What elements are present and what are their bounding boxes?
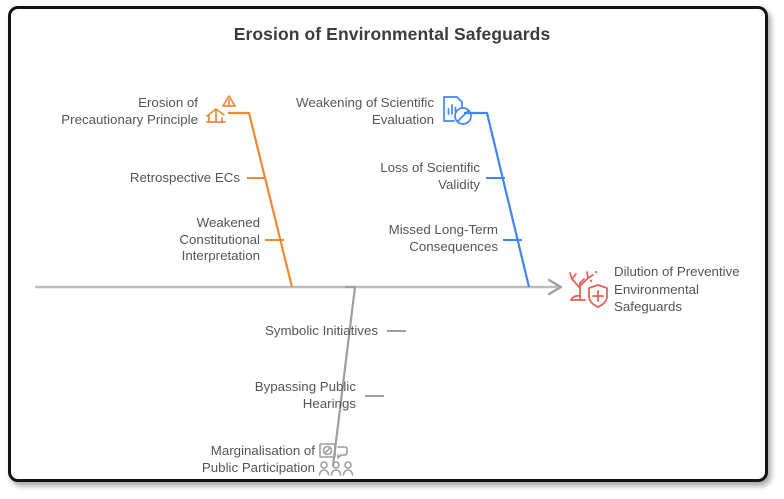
page-title: Erosion of Environmental Safeguards [0, 24, 784, 45]
cause-label-weakening-scientific-evaluation: Weakening of Scientific Evaluation [250, 95, 434, 128]
diagram-canvas: Erosion of Environmental Safeguards Eros… [0, 0, 784, 499]
cause-label-weakened-constitutional-interpretation: Weakened Constitutional Interpretation [100, 215, 260, 265]
dying-tree-shield-icon [566, 266, 610, 310]
blocked-report-icon [440, 93, 476, 129]
cause-label-bypassing-public-hearings: Bypassing Public Hearings [196, 379, 356, 412]
blocked-public-voice-icon [317, 441, 357, 477]
cause-label-retrospective-ecs: Retrospective ECs [60, 170, 240, 187]
cause-label-missed-long-term-consequences: Missed Long-Term Consequences [340, 222, 498, 255]
scales-warning-icon [203, 92, 237, 128]
cause-label-loss-scientific-validity: Loss of Scientific Validity [320, 160, 480, 193]
effect-label: Dilution of Preventive Environmental Saf… [614, 263, 774, 316]
cause-label-marginalisation-public-participation: Marginalisation of Public Participation [155, 443, 315, 476]
cause-label-erosion-precautionary-principle: Erosion of Precautionary Principle [10, 95, 198, 128]
cause-label-symbolic-initiatives: Symbolic Initiatives [208, 323, 378, 340]
